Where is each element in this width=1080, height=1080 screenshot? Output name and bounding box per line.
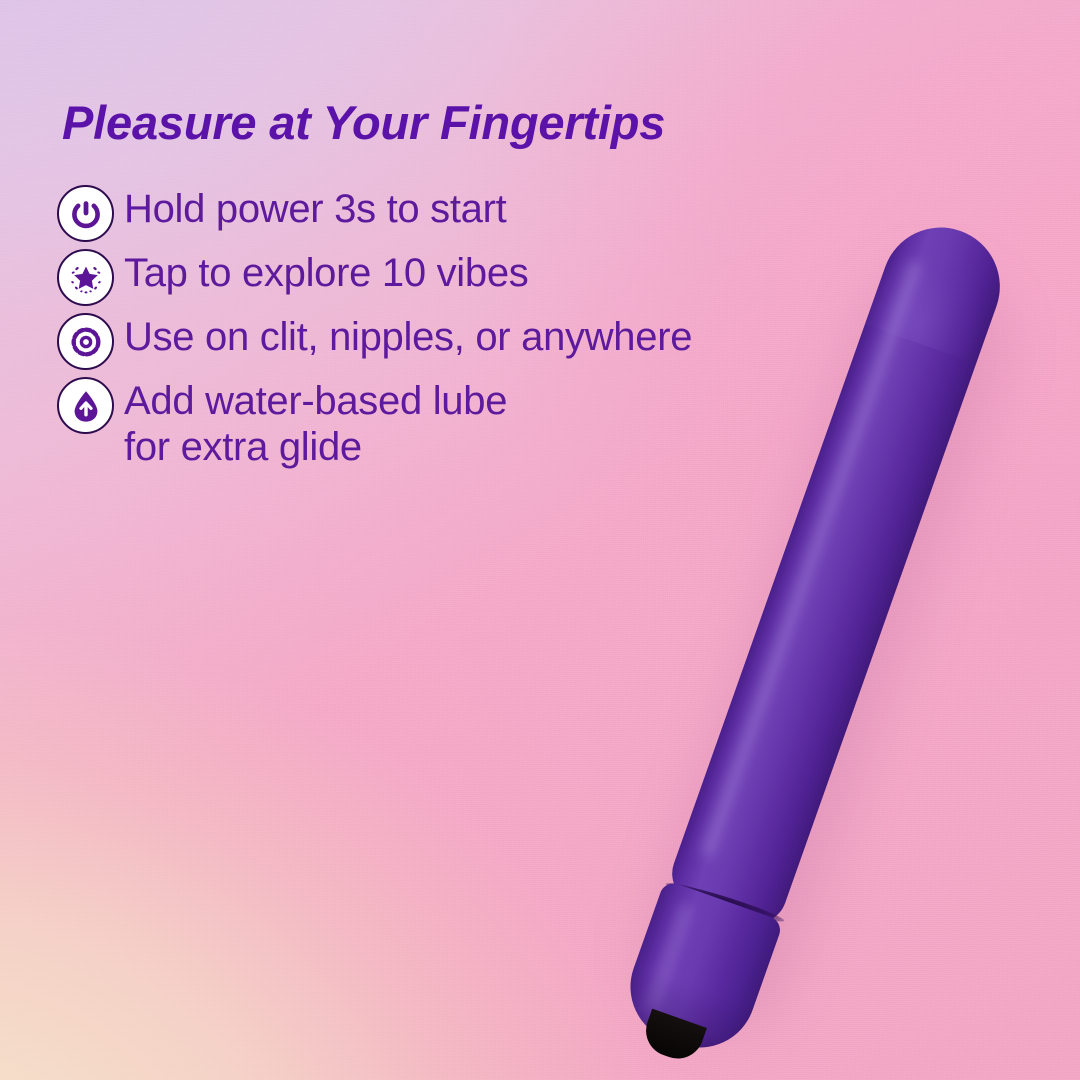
product-feature-graphic: Pleasure at Your Fingertips Hold power 3… [0, 0, 1080, 1080]
product-image [600, 170, 1020, 1070]
lube-droplet-icon [57, 377, 114, 434]
benefit-label: Tap to explore 10 vibes [124, 246, 528, 296]
benefit-label: Add water-based lube for extra glide [124, 374, 507, 471]
vibration-icon [57, 313, 114, 370]
power-icon [57, 185, 114, 242]
benefit-label: Hold power 3s to start [124, 182, 506, 232]
page-title: Pleasure at Your Fingertips [62, 98, 665, 149]
sparkle-star-icon [57, 249, 114, 306]
bullet-vibrator [638, 211, 1016, 1005]
